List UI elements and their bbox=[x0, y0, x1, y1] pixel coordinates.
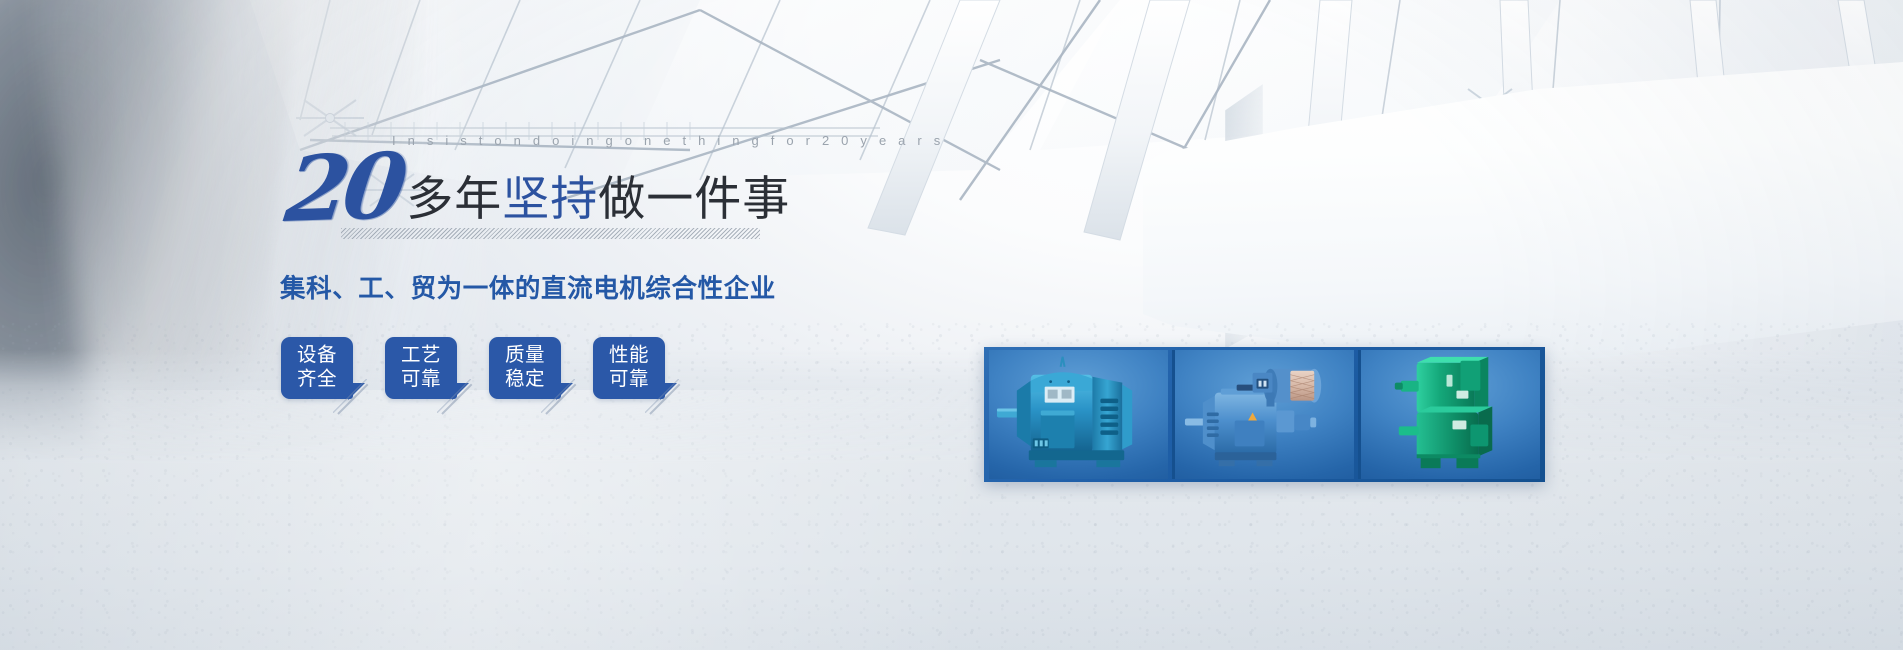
badge-streak-line bbox=[337, 384, 368, 415]
hero-banner: I n s i s t o n d o i n g o n e t h i n … bbox=[0, 0, 1903, 650]
badge-line-1: 设备 bbox=[297, 344, 337, 368]
dc-motor-blue-with-blower-icon bbox=[1175, 350, 1354, 479]
badge-corner-tail bbox=[556, 383, 573, 400]
badge-streak-line bbox=[649, 384, 680, 415]
feature-badge[interactable]: 工艺 可靠 bbox=[385, 337, 457, 399]
badge-corner-tail bbox=[348, 383, 365, 400]
badge-corner-tail bbox=[660, 383, 677, 400]
headline-part-3: 做一件事 bbox=[598, 172, 790, 225]
badge-streak-line bbox=[545, 384, 576, 415]
product-cell[interactable] bbox=[1172, 350, 1354, 479]
dc-motor-blue-large-icon bbox=[989, 350, 1168, 479]
product-gallery bbox=[984, 347, 1545, 482]
badge-line-2: 齐全 bbox=[297, 368, 337, 392]
feature-badge[interactable]: 设备 齐全 bbox=[281, 337, 353, 399]
headline-text: 多年坚持做一件事 bbox=[406, 175, 790, 226]
badge-line-1: 质量 bbox=[505, 344, 545, 368]
headline-part-2-highlight: 坚持 bbox=[502, 172, 598, 225]
badge-line-2: 稳定 bbox=[505, 368, 545, 392]
badge-line-2: 可靠 bbox=[609, 368, 649, 392]
badge-corner-tail bbox=[452, 383, 469, 400]
badge-line-1: 工艺 bbox=[401, 344, 441, 368]
badge-line-1: 性能 bbox=[609, 344, 649, 368]
product-cell[interactable] bbox=[989, 350, 1168, 479]
english-tagline: I n s i s t o n d o i n g o n e t h i n … bbox=[392, 133, 944, 148]
headline: 20 多年坚持做一件事 bbox=[287, 152, 790, 226]
feature-badge[interactable]: 性能 可靠 bbox=[593, 337, 665, 399]
dc-motor-green-vertical-icon bbox=[1361, 350, 1540, 479]
subtitle: 集科、工、贸为一体的直流电机综合性企业 bbox=[280, 268, 776, 305]
headline-number-20: 20 bbox=[282, 150, 405, 228]
banner-content: I n s i s t o n d o i n g o n e t h i n … bbox=[0, 0, 1903, 650]
hatched-divider bbox=[341, 228, 760, 239]
badge-streak-line bbox=[441, 384, 472, 415]
feature-badge[interactable]: 质量 稳定 bbox=[489, 337, 561, 399]
headline-part-1: 多年 bbox=[406, 172, 502, 225]
feature-badge-list: 设备 齐全 工艺 可靠 质量 稳定 性能 可靠 bbox=[281, 337, 665, 399]
badge-line-2: 可靠 bbox=[401, 368, 441, 392]
product-cell[interactable] bbox=[1358, 350, 1540, 479]
